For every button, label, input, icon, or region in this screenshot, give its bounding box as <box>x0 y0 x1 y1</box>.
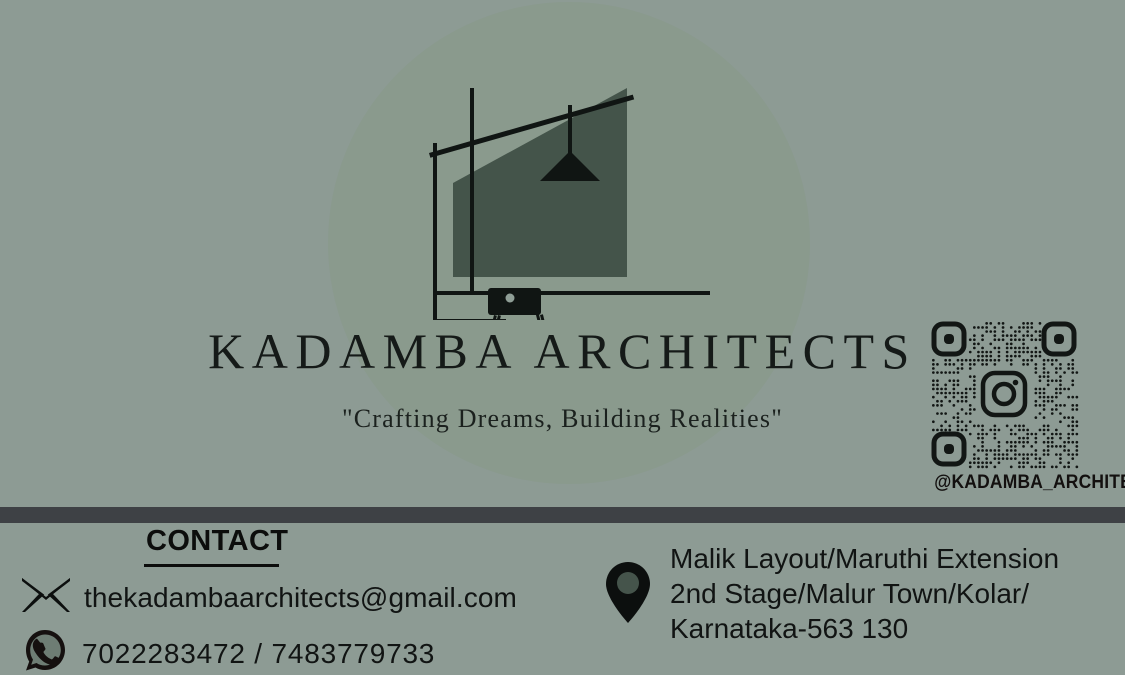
hero-section: KADAMBA ARCHITECTS "Crafting Dreams, Bui… <box>0 0 1125 507</box>
address-line-3: Karnataka-563 130 <box>670 611 1059 646</box>
instagram-qr-block[interactable]: @KADAMBA_ARCHITECTS <box>928 318 1084 494</box>
instagram-handle[interactable]: @KADAMBA_ARCHITECTS <box>934 472 1078 494</box>
section-divider <box>0 507 1125 523</box>
footer-section: CONTACT thekadambaarchitects@gmail.com <box>0 523 1125 675</box>
architecture-interior-illustration-icon <box>420 55 740 320</box>
business-card: KADAMBA ARCHITECTS "Crafting Dreams, Bui… <box>0 0 1125 675</box>
phone-value[interactable]: 7022283472 / 7483779733 <box>82 638 435 670</box>
whatsapp-icon <box>22 628 68 675</box>
contact-column: CONTACT thekadambaarchitects@gmail.com <box>0 523 600 675</box>
contact-heading-underline <box>144 564 279 567</box>
instagram-qr-code-icon[interactable] <box>928 318 1080 470</box>
envelope-icon <box>22 578 70 617</box>
contact-heading: CONTACT <box>146 525 288 558</box>
address-column: Malik Layout/Maruthi Extension 2nd Stage… <box>604 541 1059 646</box>
contact-row-email[interactable]: thekadambaarchitects@gmail.com <box>22 578 517 617</box>
email-value[interactable]: thekadambaarchitects@gmail.com <box>84 582 517 614</box>
contact-row-phone[interactable]: 7022283472 / 7483779733 <box>22 628 435 675</box>
location-pin-icon <box>604 561 652 630</box>
address-line-1: Malik Layout/Maruthi Extension <box>670 541 1059 576</box>
address-text: Malik Layout/Maruthi Extension 2nd Stage… <box>670 541 1059 646</box>
address-line-2: 2nd Stage/Malur Town/Kolar/ <box>670 576 1059 611</box>
